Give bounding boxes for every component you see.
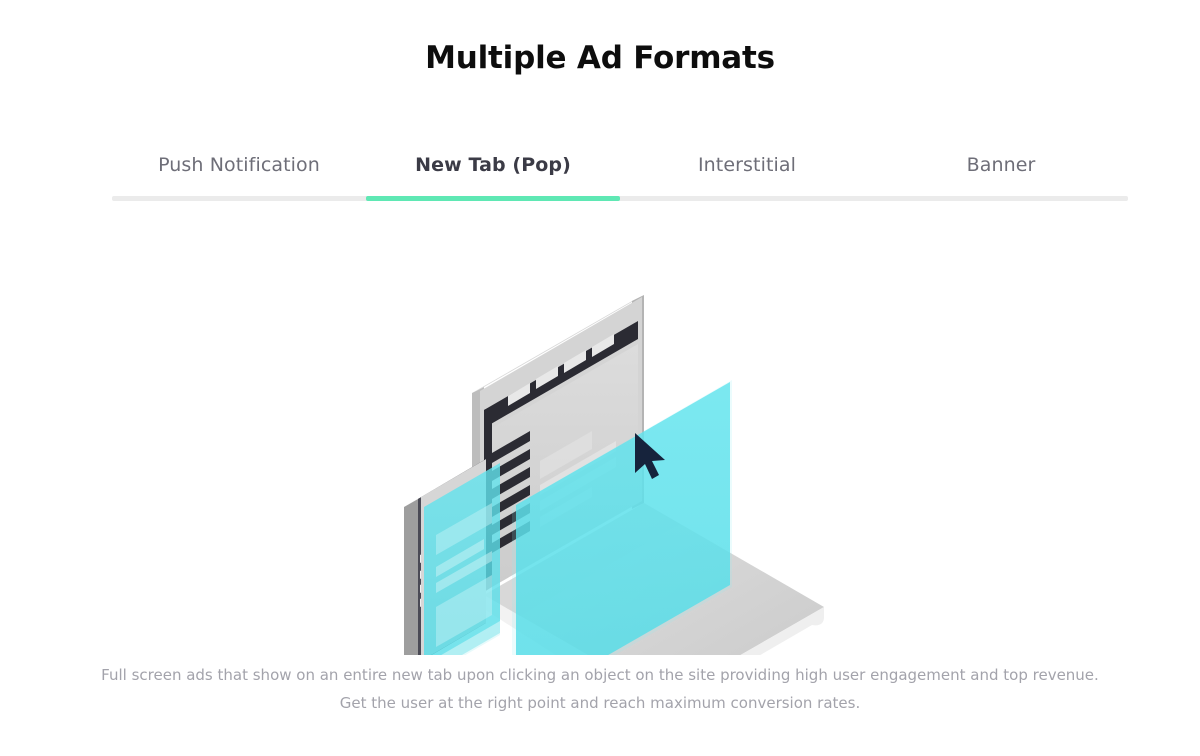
page-root: Multiple Ad Formats Push Notification Ne… [0,0,1200,756]
format-description: Full screen ads that show on an entire n… [100,661,1100,717]
ad-format-tabs: Push Notification New Tab (Pop) Intersti… [112,152,1128,201]
ad-format-illustration [380,235,840,655]
tab-new-tab-pop[interactable]: New Tab (Pop) [366,152,620,196]
tab-list: Push Notification New Tab (Pop) Intersti… [112,152,1128,196]
tab-underline-track [112,196,1128,201]
description-line-1: Full screen ads that show on an entire n… [100,661,1100,689]
tab-interstitial[interactable]: Interstitial [620,152,874,196]
phone-side-edge [404,499,418,655]
description-line-2: Get the user at the right point and reac… [100,689,1100,717]
tab-active-indicator [366,196,620,201]
phone-device [404,459,500,655]
page-title: Multiple Ad Formats [0,40,1200,76]
tab-banner[interactable]: Banner [874,152,1128,196]
tab-push-notification[interactable]: Push Notification [112,152,366,196]
